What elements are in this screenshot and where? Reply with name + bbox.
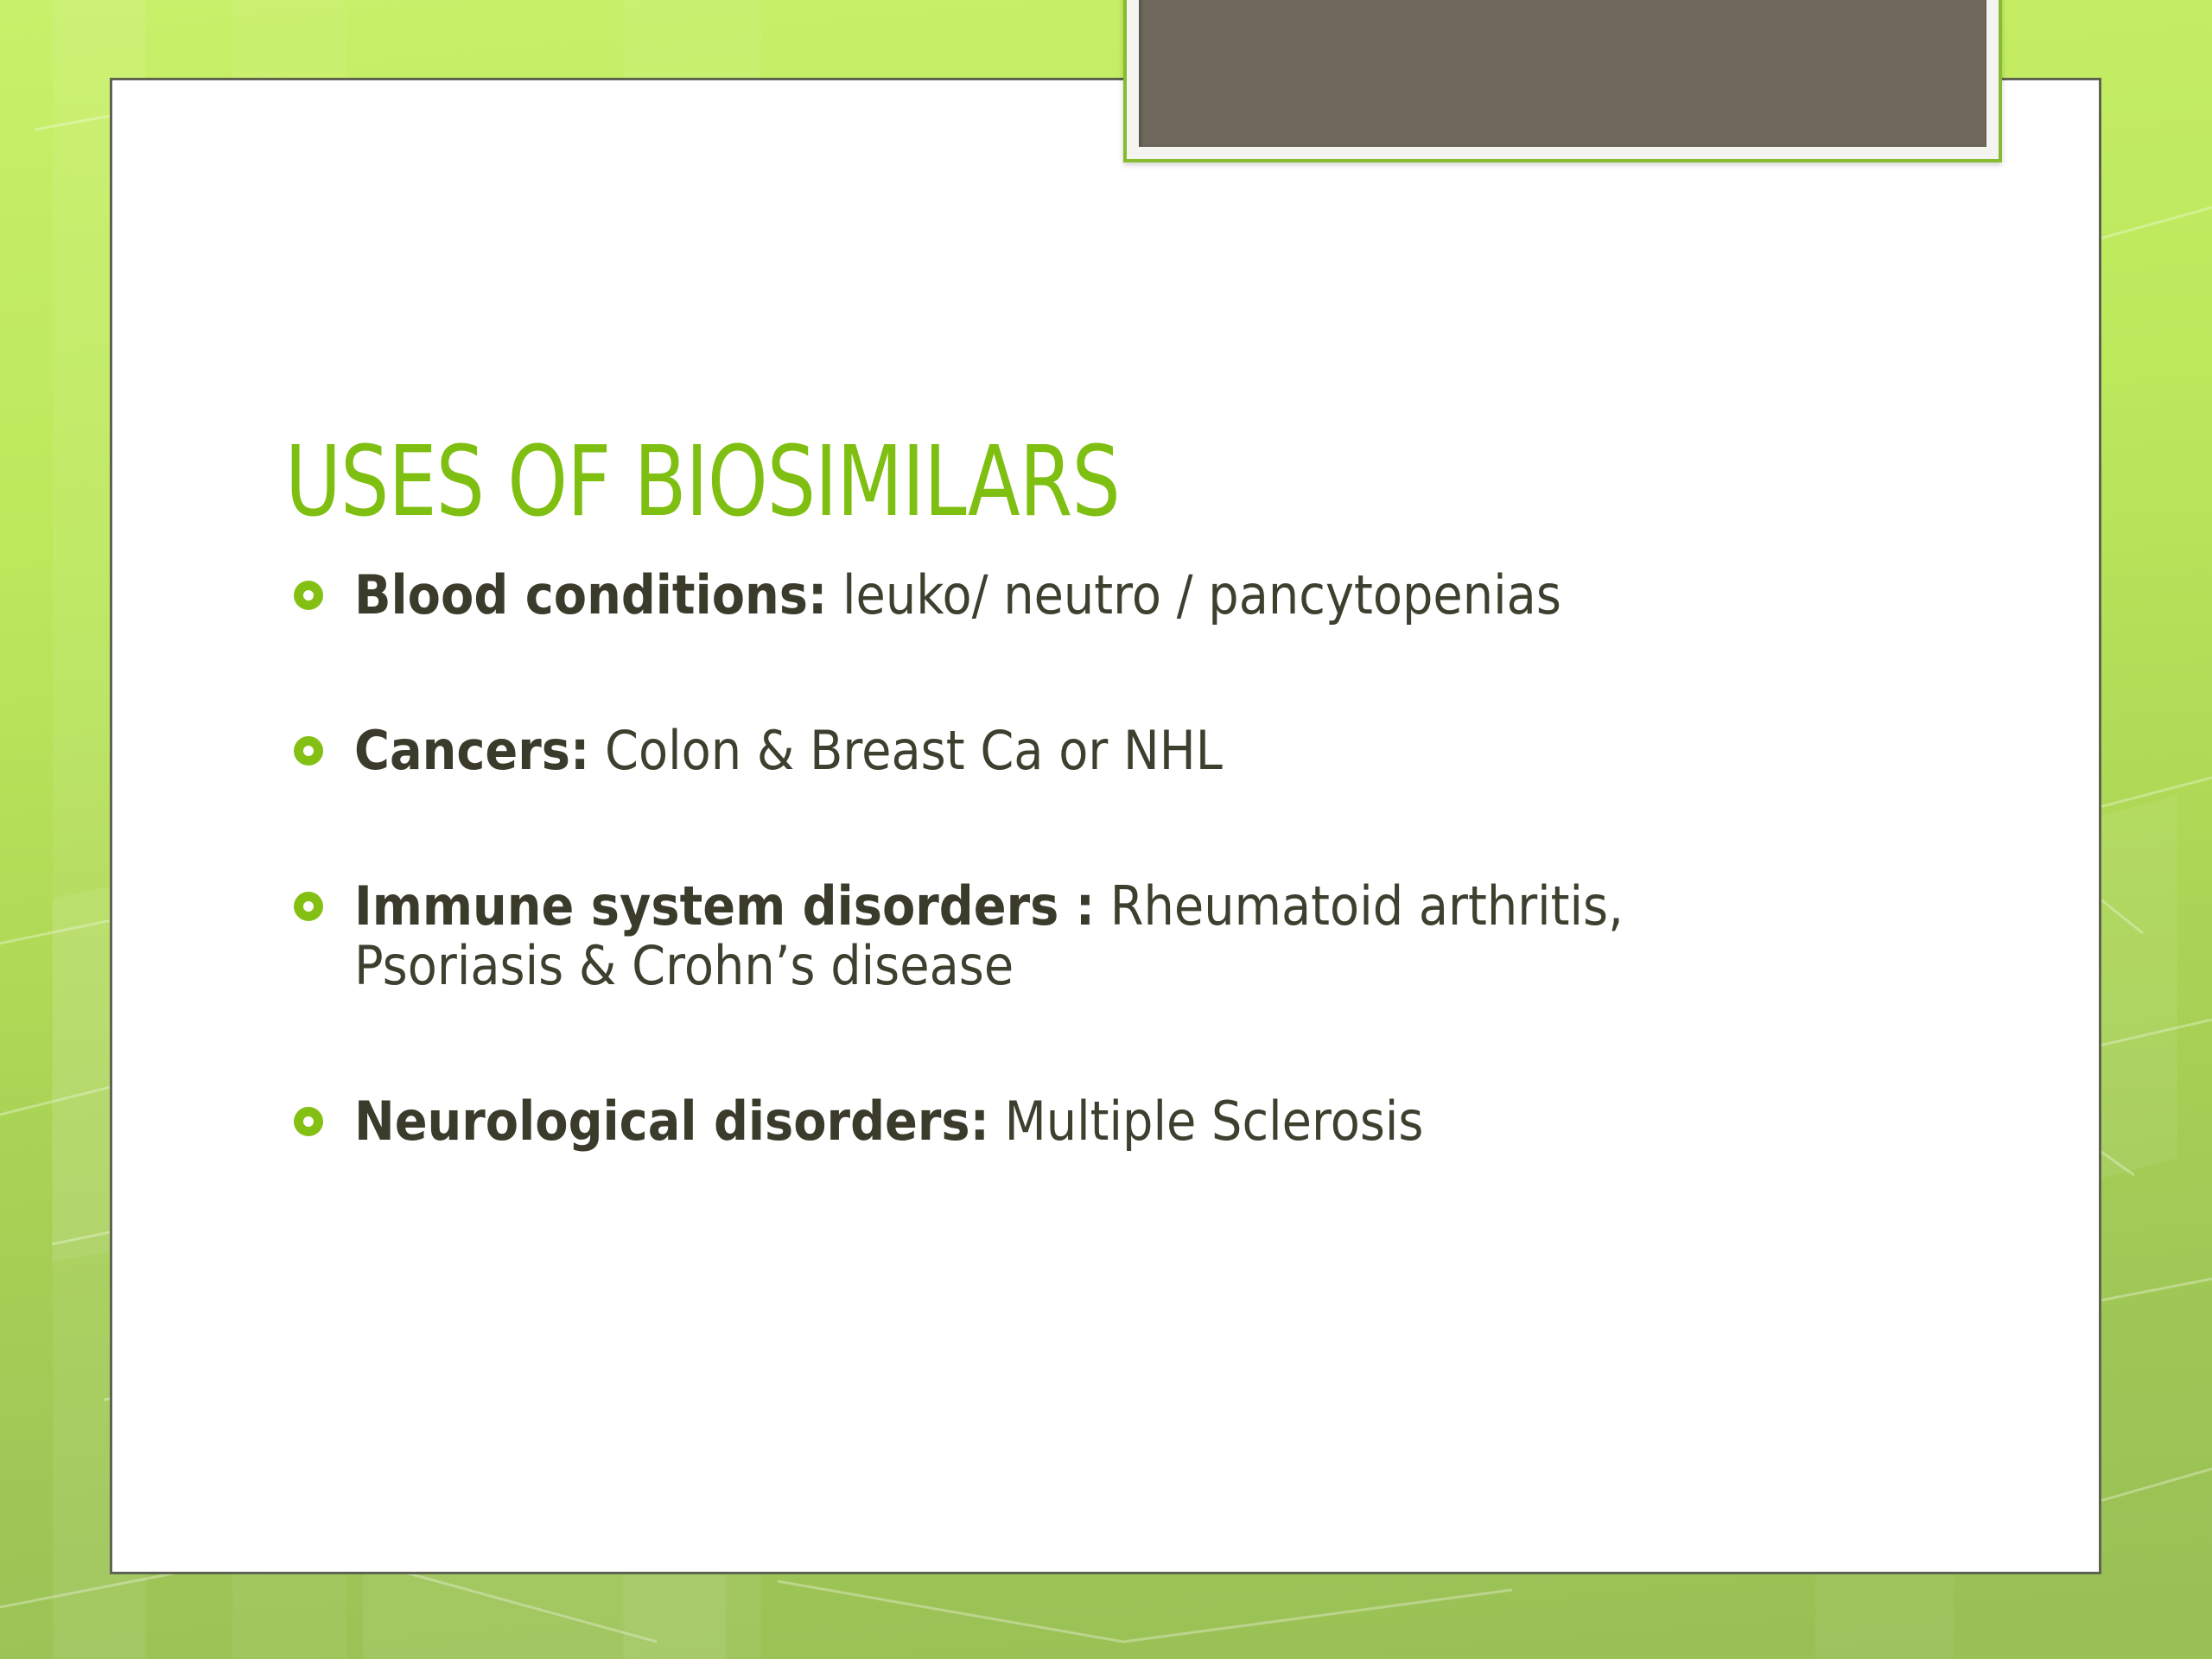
list-item-detail: leuko/ neutro / pancytopenias xyxy=(827,563,1561,626)
ring-bullet-icon xyxy=(294,581,323,610)
list-item-lead: Cancers: xyxy=(354,719,589,782)
list-item-text: Immune system disorders : Rheumatoid art… xyxy=(354,877,1787,995)
bullet-list: Blood conditions: leuko/ neutro / pancyt… xyxy=(285,566,1789,1151)
list-item-text: Cancers: Colon & Breast Ca or NHL xyxy=(354,721,1787,780)
photo-placeholder-frame xyxy=(1123,0,2002,162)
list-item-lead: Blood conditions: xyxy=(354,563,827,626)
ring-bullet-icon xyxy=(294,1107,323,1136)
ring-bullet-icon xyxy=(294,736,323,766)
presentation-slide: USES OF BIOSIMILARS Blood conditions: le… xyxy=(0,0,2212,1659)
ring-bullet-icon xyxy=(294,892,323,921)
list-item: Immune system disorders : Rheumatoid art… xyxy=(285,877,1789,995)
list-item: Cancers: Colon & Breast Ca or NHL xyxy=(285,721,1789,780)
list-item-detail: Colon & Breast Ca or NHL xyxy=(589,719,1223,782)
page-title: USES OF BIOSIMILARS xyxy=(285,432,1730,534)
list-item-lead: Neurological disorders: xyxy=(354,1090,989,1153)
photo-placeholder-image xyxy=(1139,0,1986,147)
list-item: Blood conditions: leuko/ neutro / pancyt… xyxy=(285,566,1789,625)
list-item-text: Blood conditions: leuko/ neutro / pancyt… xyxy=(354,566,1787,625)
list-item-text: Neurological disorders: Multiple Scleros… xyxy=(354,1092,1787,1151)
list-item-lead: Immune system disorders : xyxy=(354,874,1095,938)
list-item: Neurological disorders: Multiple Scleros… xyxy=(285,1092,1789,1151)
list-item-detail: Multiple Sclerosis xyxy=(989,1090,1424,1153)
